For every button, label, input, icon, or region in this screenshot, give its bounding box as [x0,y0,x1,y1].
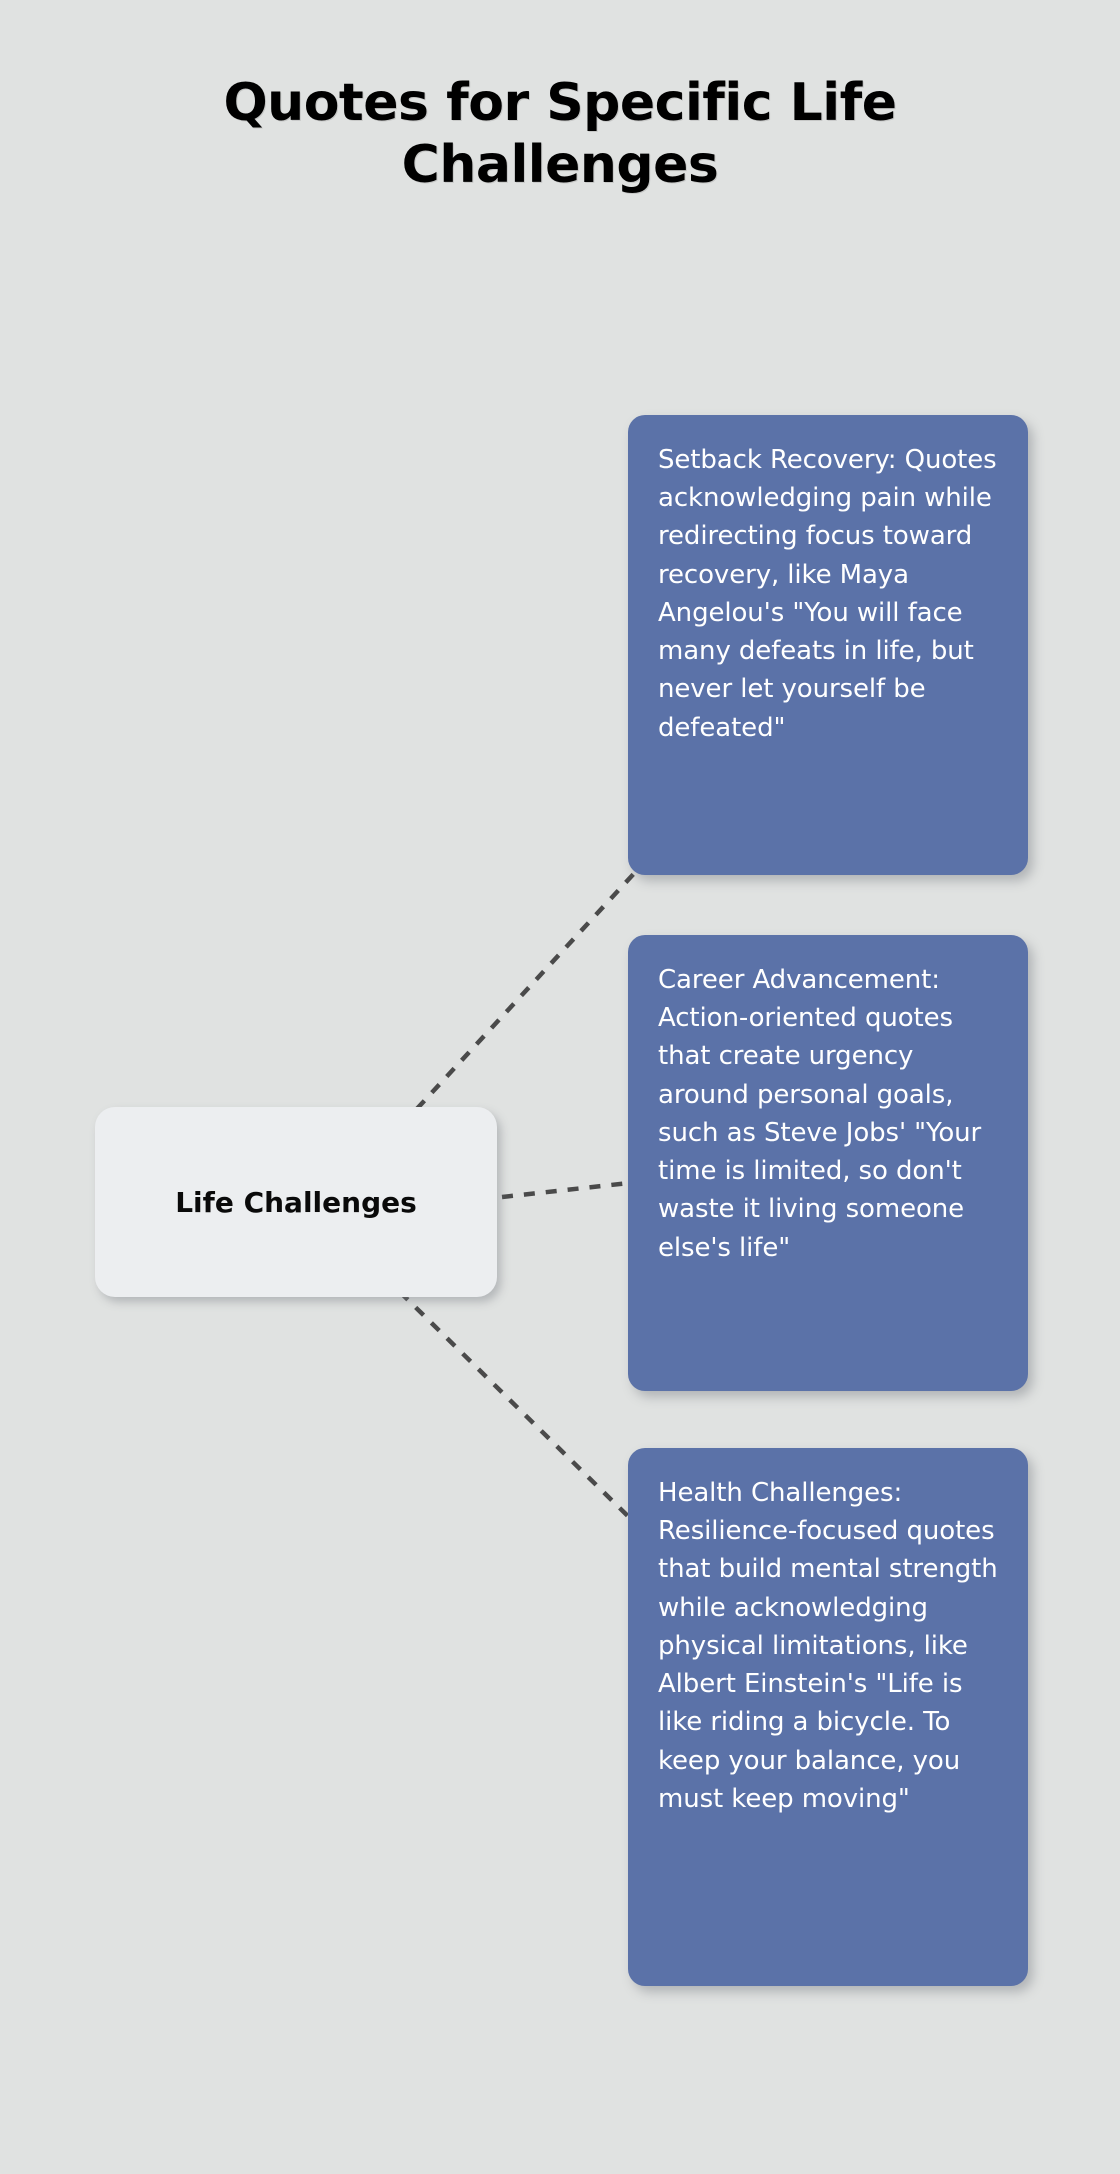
edge-root-to-setback-recovery [402,867,640,1125]
branch-card-text: Setback Recovery: Quotes acknowledging p… [658,441,998,747]
branch-card-setback-recovery[interactable]: Setback Recovery: Quotes acknowledging p… [628,415,1028,875]
edge-root-to-health-challenges [400,1292,640,1528]
root-node[interactable]: Life Challenges [95,1107,497,1297]
branch-card-text: Career Advancement: Action-oriented quot… [658,961,998,1267]
branch-card-career-advancement[interactable]: Career Advancement: Action-oriented quot… [628,935,1028,1391]
branch-card-health-challenges[interactable]: Health Challenges: Resilience-focused qu… [628,1448,1028,1986]
branch-card-text: Health Challenges: Resilience-focused qu… [658,1474,998,1818]
root-node-label: Life Challenges [175,1185,417,1220]
mindmap-canvas: Quotes for Specific Life Challenges Life… [0,0,1120,2174]
page-title: Quotes for Specific Life Challenges [190,72,930,197]
edge-root-to-career-advancement [502,1182,638,1197]
